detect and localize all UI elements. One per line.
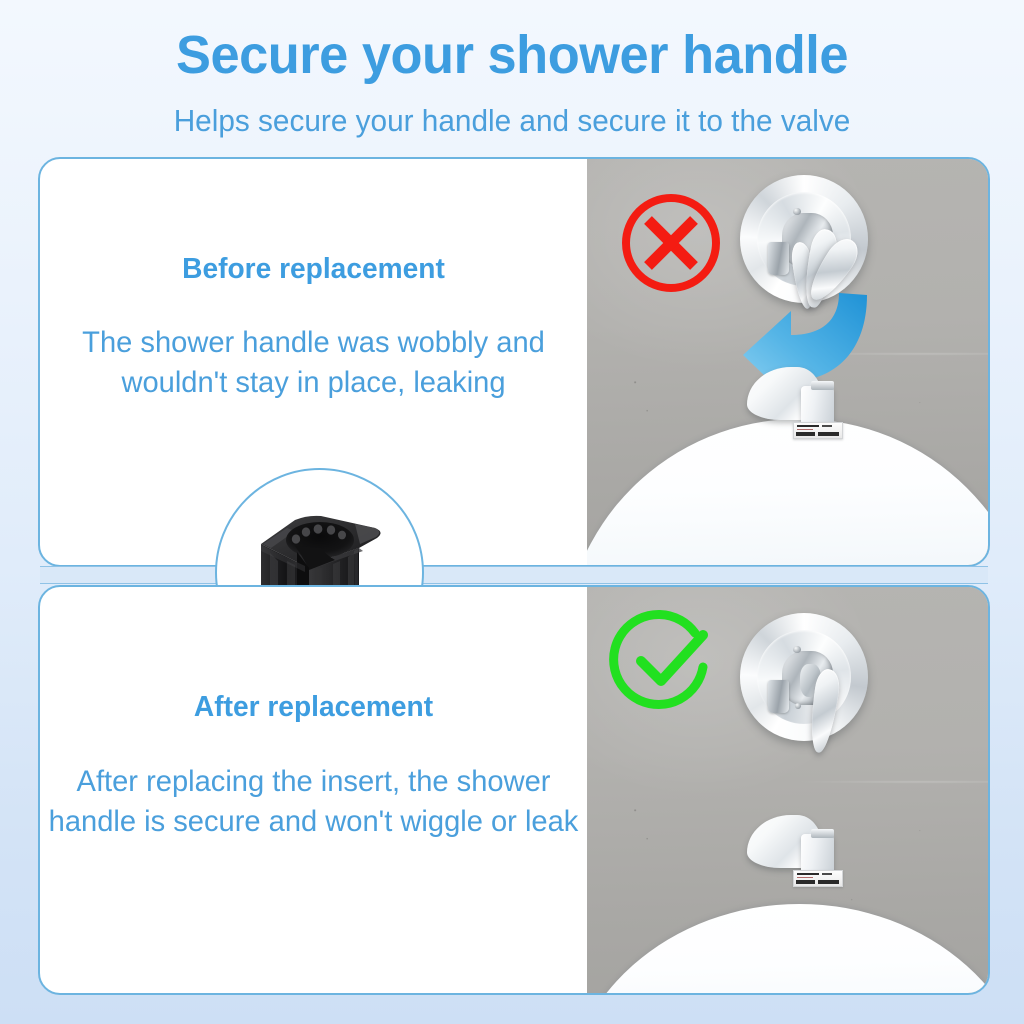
red-x-icon bbox=[615, 187, 727, 299]
panel-after-replacement: After replacement After replacing the in… bbox=[38, 585, 990, 995]
valve-tab bbox=[768, 680, 788, 713]
panel-before-replacement: Before replacement The shower handle was… bbox=[38, 157, 990, 567]
spout-sticker-label bbox=[793, 422, 843, 439]
tub-spout bbox=[747, 815, 851, 887]
before-photo bbox=[587, 159, 988, 565]
page-title: Secure your shower handle bbox=[15, 26, 1008, 84]
after-body-text: After replacing the insert, the shower h… bbox=[48, 762, 579, 842]
before-body-text: The shower handle was wobbly and wouldn'… bbox=[48, 323, 579, 403]
shower-valve-trim-secure bbox=[740, 613, 868, 741]
connector-bar-right bbox=[414, 566, 988, 584]
shower-valve-trim-loose bbox=[740, 175, 868, 303]
panel-after-text-column: After replacement After replacing the in… bbox=[40, 587, 587, 993]
infographic-page: Secure your shower handle Helps secure y… bbox=[0, 0, 1024, 1024]
tub-spout bbox=[747, 367, 851, 439]
after-photo bbox=[587, 587, 988, 993]
connector-bar-left bbox=[40, 566, 222, 584]
spout-diverter-knob bbox=[811, 829, 834, 838]
after-heading: After replacement bbox=[48, 691, 579, 724]
spout-sticker-label bbox=[793, 870, 843, 887]
green-check-icon bbox=[607, 605, 719, 717]
page-subtitle: Helps secure your handle and secure it t… bbox=[20, 104, 1003, 138]
before-heading: Before replacement bbox=[48, 253, 579, 286]
valve-tab bbox=[768, 242, 788, 275]
spout-diverter-knob bbox=[811, 381, 834, 390]
